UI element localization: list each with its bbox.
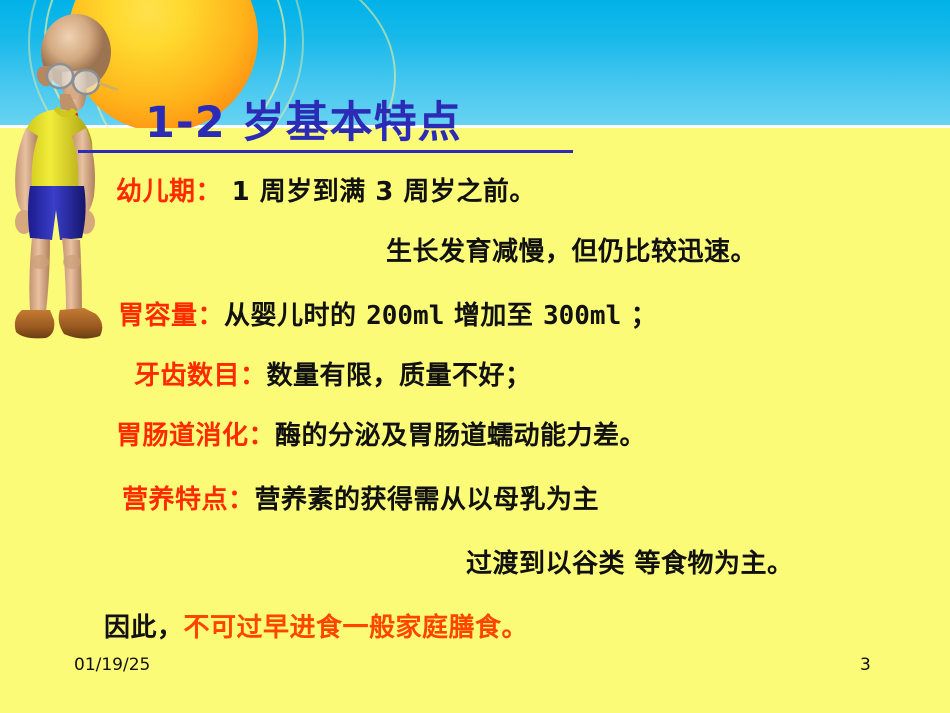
line-3-label: 胃容量： [118, 301, 224, 331]
line-6-label: 营养特点： [122, 485, 255, 515]
bullet-line-5: 胃肠道消化：酶的分泌及胃肠道蠕动能力差。 [116, 420, 646, 452]
footer-date: 01/19/25 [74, 655, 150, 675]
bullet-line-4: 牙齿数目：数量有限，质量不好； [134, 360, 532, 392]
line-4-label: 牙齿数目： [134, 361, 267, 391]
line-3-value-from: 200ml [366, 301, 444, 331]
line-3-text-b: 增加至 [444, 301, 543, 331]
line-3-text-a: 从婴儿时的 [224, 301, 366, 331]
line-2-text: 生长发育减慢，但仍比较迅速。 [386, 237, 757, 267]
bullet-line-2: 生长发育减慢，但仍比较迅速。 [386, 236, 757, 268]
line-4-text: 数量有限，质量不好； [267, 361, 532, 391]
slide-canvas: 1-2 岁基本特点 幼儿期： 1 周岁到满 3 周岁之前。 生长发育减慢，但仍比… [0, 0, 950, 713]
line-5-text: 酶的分泌及胃肠道蠕动能力差。 [275, 421, 646, 451]
bullet-line-7: 过渡到以谷类 等食物为主。 [466, 548, 794, 580]
title-underline [78, 150, 573, 153]
line-8-text: 不可过早进食一般家庭膳食。 [184, 613, 529, 643]
page-title: 1-2 岁基本特点 [50, 98, 750, 148]
line-5-label: 胃肠道消化： [116, 421, 275, 451]
line-8-label: 因此， [104, 613, 184, 643]
footer-page-number: 3 [860, 655, 871, 675]
bullet-line-3: 胃容量：从婴儿时的 200ml 增加至 300ml ； [118, 300, 657, 332]
line-3-value-to: 300ml [543, 301, 621, 331]
slide-title-block: 1-2 岁基本特点 [50, 98, 750, 148]
line-1-text: 1 周岁到满 3 周岁之前。 [222, 177, 536, 207]
line-7-text: 过渡到以谷类 等食物为主。 [466, 549, 794, 579]
line-1-label: 幼儿期： [116, 177, 222, 207]
bullet-line-6: 营养特点：营养素的获得需从以母乳为主 [122, 484, 599, 516]
line-6-text: 营养素的获得需从以母乳为主 [255, 485, 600, 515]
bullet-line-1: 幼儿期： 1 周岁到满 3 周岁之前。 [116, 176, 536, 208]
bullet-line-8: 因此，不可过早进食一般家庭膳食。 [104, 612, 528, 644]
line-3-text-c: ； [621, 301, 657, 331]
